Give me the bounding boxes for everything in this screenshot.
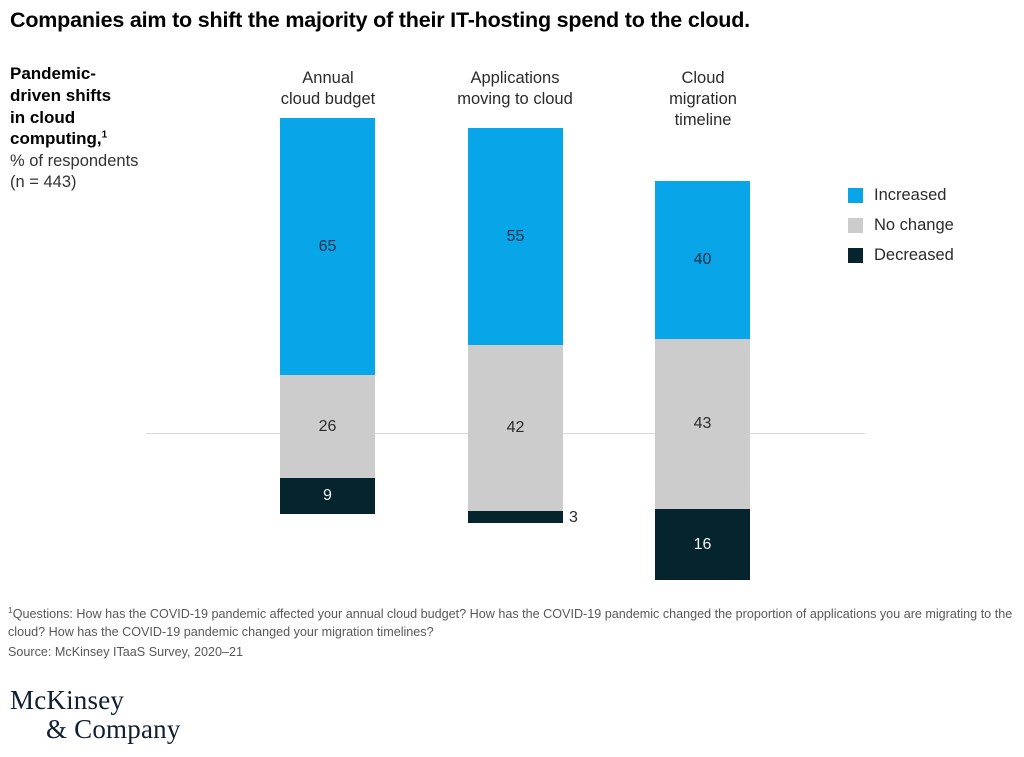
column-header-cloud-migration-timeline: Cloud migration timeline: [638, 68, 768, 131]
logo-line-1: McKinsey: [10, 686, 181, 715]
chart-legend: Increased No change Decreased: [848, 180, 954, 270]
bar-segment-no-change-applications-moving-to-cloud[interactable]: 42: [468, 345, 563, 511]
footnote-question: 1Questions: How has the COVID-19 pandemi…: [8, 604, 1014, 642]
bar-segment-no-change-cloud-migration-timeline[interactable]: 43: [655, 339, 750, 509]
legend-label-increased: Increased: [874, 186, 946, 205]
footnote-question-text: Questions: How has the COVID-19 pandemic…: [8, 607, 1012, 639]
chart-plot-area: Annual cloud budget Applications moving …: [0, 0, 1024, 640]
legend-swatch-no-change-icon: [848, 218, 863, 233]
bar-segment-no-change-annual-cloud-budget[interactable]: 26: [280, 375, 375, 478]
legend-label-decreased: Decreased: [874, 246, 954, 265]
bar-segment-decreased-applications-moving-to-cloud[interactable]: [468, 511, 563, 523]
bar-segment-increased-cloud-migration-timeline[interactable]: 40: [655, 181, 750, 339]
logo-line-2: & Company: [10, 715, 181, 744]
bar-segment-decreased-cloud-migration-timeline[interactable]: 16: [655, 509, 750, 580]
legend-label-no-change: No change: [874, 216, 954, 235]
legend-item-increased[interactable]: Increased: [848, 180, 954, 210]
mckinsey-logo: McKinsey & Company: [10, 686, 181, 744]
column-header-annual-cloud-budget: Annual cloud budget: [258, 68, 398, 110]
column-header-applications-moving-to-cloud: Applications moving to cloud: [430, 68, 600, 110]
legend-item-no-change[interactable]: No change: [848, 210, 954, 240]
bar-segment-increased-applications-moving-to-cloud[interactable]: 55: [468, 128, 563, 345]
chart-footnotes: 1Questions: How has the COVID-19 pandemi…: [8, 604, 1014, 661]
bar-segment-decreased-annual-cloud-budget[interactable]: 9: [280, 478, 375, 514]
legend-item-decreased[interactable]: Decreased: [848, 240, 954, 270]
bar-segment-increased-annual-cloud-budget[interactable]: 65: [280, 118, 375, 375]
legend-swatch-decreased-icon: [848, 248, 863, 263]
bar-value-label-decreased-applications-moving-to-cloud: 3: [569, 509, 578, 527]
legend-swatch-increased-icon: [848, 188, 863, 203]
footnote-source: Source: McKinsey ITaaS Survey, 2020–21: [8, 643, 1014, 661]
